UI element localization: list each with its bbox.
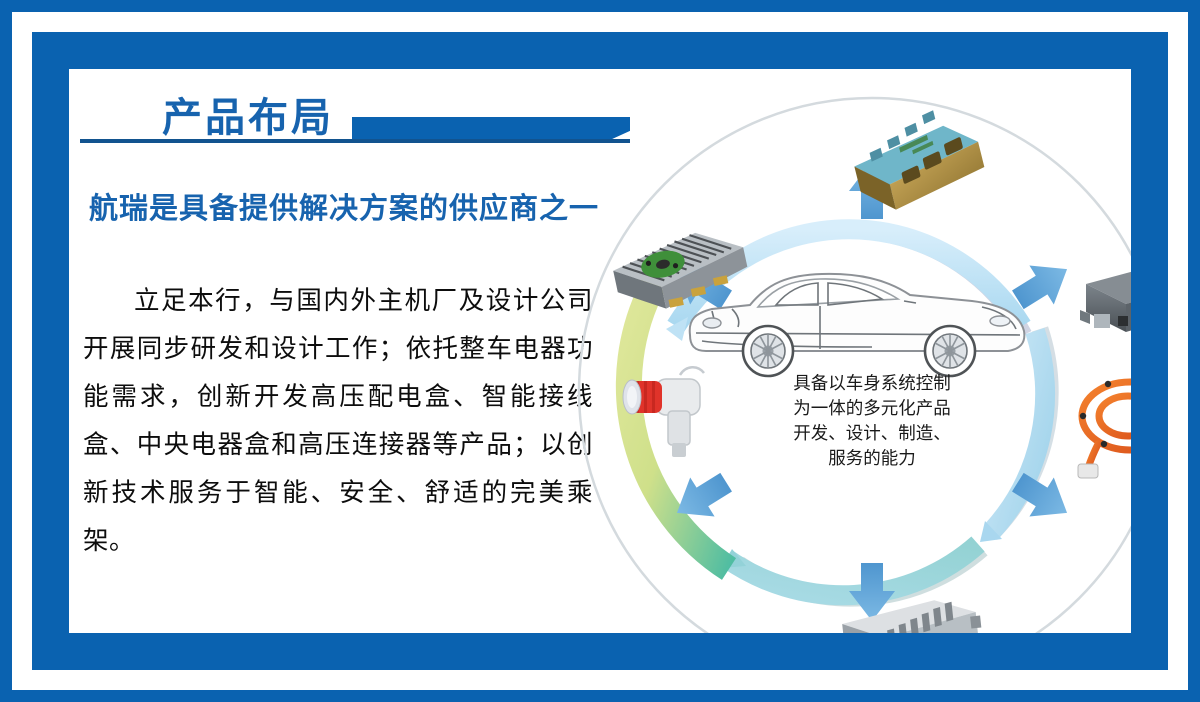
center-caption-line-1: 具备以车身系统控制 <box>793 373 951 393</box>
product-hv-distribution-box <box>1080 270 1131 332</box>
ring-arc-bottom <box>722 544 978 595</box>
frame-white-gap: 产品布局 航瑞是具备提供解决方案的供应商之一 立足本行，与国内外主机厂及设计公司… <box>12 12 1188 690</box>
diagram-center-caption: 具备以车身系统控制 为一体的多元化产品 开发、设计、制造、 服务的能力 <box>793 373 951 468</box>
title-accent-bar <box>352 117 630 141</box>
product-layout-diagram: 具备以车身系统控制 为一体的多元化产品 开发、设计、制造、 服务的能力 <box>554 79 1131 633</box>
page-title: 产品布局 <box>162 85 334 143</box>
section-subheading: 航瑞是具备提供解决方案的供应商之一 <box>89 185 629 227</box>
section-body-paragraph: 立足本行，与国内外主机厂及设计公司开展同步研发和设计工作；依托整车电器功能需求，… <box>83 277 593 565</box>
center-caption-line-3: 开发、设计、制造、 <box>793 423 951 443</box>
center-caption-line-4: 服务的能力 <box>828 448 916 468</box>
product-hv-wire-harness <box>1078 370 1131 478</box>
slide-canvas: 产品布局 航瑞是具备提供解决方案的供应商之一 立足本行，与国内外主机厂及设计公司… <box>69 69 1131 633</box>
frame-inner-border: 产品布局 航瑞是具备提供解决方案的供应商之一 立足本行，与国内外主机厂及设计公司… <box>32 32 1168 670</box>
slide-root: 产品布局 航瑞是具备提供解决方案的供应商之一 立足本行，与国内外主机厂及设计公司… <box>0 0 1200 702</box>
center-caption-line-2: 为一体的多元化产品 <box>793 398 951 418</box>
car-illustration <box>690 274 1025 376</box>
product-finned-ecu-module <box>609 224 752 318</box>
